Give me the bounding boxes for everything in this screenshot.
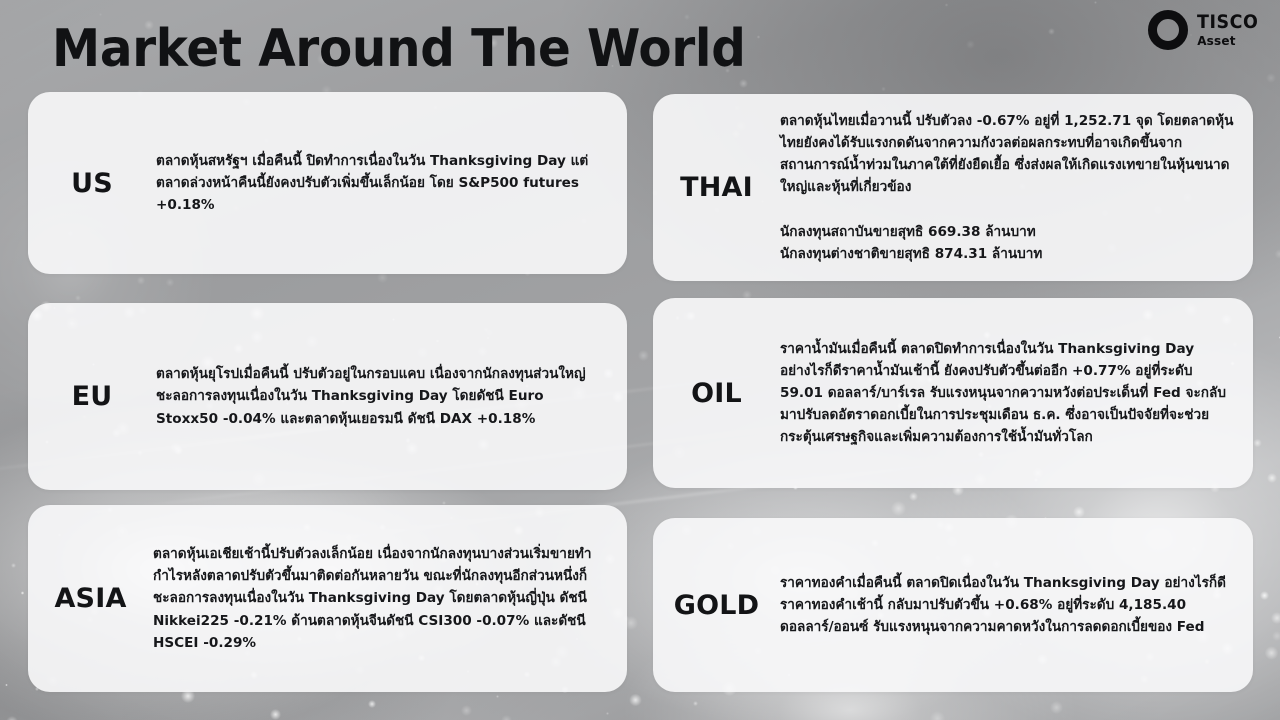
market-card-us[interactable]: US ตลาดหุ้นสหรัฐฯ เมื่อคืนนี้ ปิดทำการเน… [28,92,627,274]
market-card-oil[interactable]: OIL ราคาน้ำมันเมื่อคืนนี้ ตลาดปิดทำการเน… [653,298,1253,488]
market-card-body: ราคาทองคำเมื่อคืนนี้ ตลาดปิดเนื่องในวัน … [780,572,1253,638]
ring-icon [1148,10,1188,50]
logo-subtitle: Asset [1197,35,1264,47]
market-card-label: EU [28,381,156,412]
market-card-body: ตลาดหุ้นยุโรปเมื่อคืนนี้ ปรับตัวอยู่ในกร… [156,363,627,429]
market-card-eu[interactable]: EU ตลาดหุ้นยุโรปเมื่อคืนนี้ ปรับตัวอยู่ใ… [28,303,627,490]
market-card-thai[interactable]: THAI ตลาดหุ้นไทยเมื่อวานนี้ ปรับตัวลง -0… [653,94,1253,281]
market-card-label: ASIA [28,583,153,614]
logo-wordmark: TISCO Asset [1197,13,1264,47]
logo-name: TISCO [1197,13,1258,32]
market-card-gold[interactable]: GOLD ราคาทองคำเมื่อคืนนี้ ตลาดปิดเนื่องใ… [653,518,1253,692]
market-card-body: ตลาดหุ้นเอเชียเช้านี้ปรับตัวลงเล็กน้อย เ… [153,543,627,653]
market-card-label: US [28,168,156,199]
brand-logo: TISCO Asset [1148,10,1264,50]
page-title: Market Around The World [52,22,746,77]
market-card-label: GOLD [653,590,780,621]
market-card-body: ราคาน้ำมันเมื่อคืนนี้ ตลาดปิดทำการเนื่อง… [780,338,1253,448]
header: Market Around The World TISCO Asset [0,0,1280,92]
market-card-label: OIL [653,378,780,409]
market-card-body: ตลาดหุ้นไทยเมื่อวานนี้ ปรับตัวลง -0.67% … [780,110,1253,264]
market-card-label: THAI [653,172,780,203]
market-card-asia[interactable]: ASIA ตลาดหุ้นเอเชียเช้านี้ปรับตัวลงเล็กน… [28,505,627,692]
market-card-body: ตลาดหุ้นสหรัฐฯ เมื่อคืนนี้ ปิดทำการเนื่อ… [156,150,627,216]
